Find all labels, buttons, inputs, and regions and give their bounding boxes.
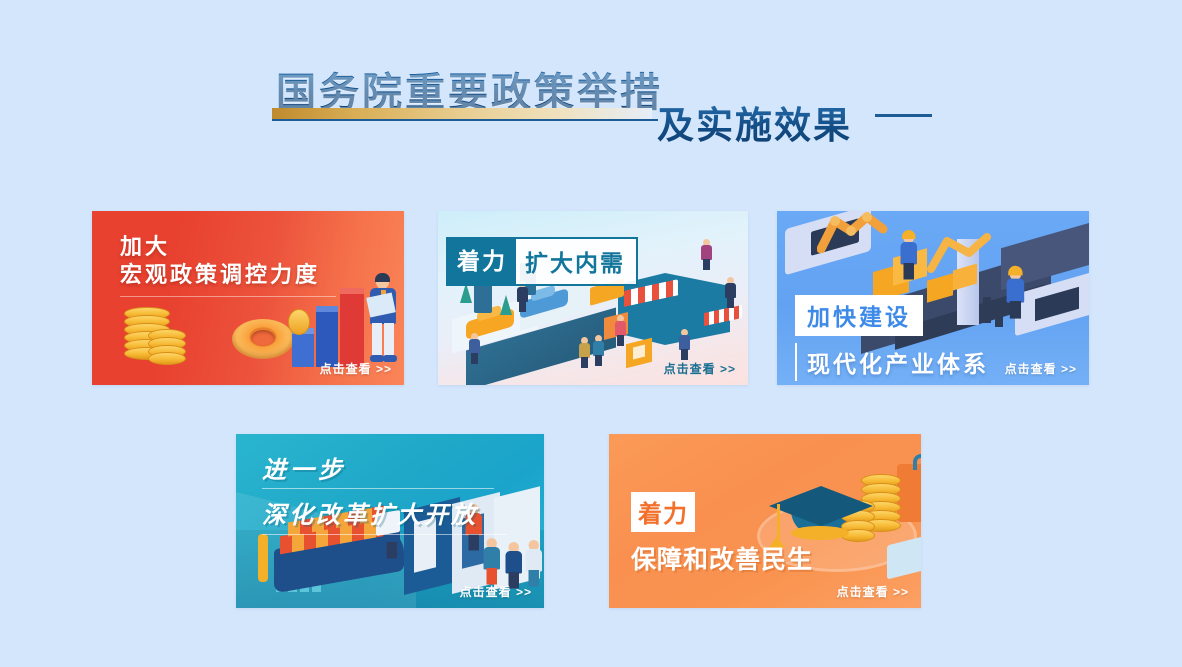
card1-title-line1: 加大 xyxy=(120,235,336,261)
card3-title-box: 加快建设 xyxy=(795,295,923,336)
card3-title-bracket: 现代化产业体系 xyxy=(795,343,989,381)
card5-title-row: 着力 xyxy=(631,492,813,532)
gold-torus-icon xyxy=(232,319,294,359)
card-expand-domestic-demand-title: 着力 扩大内需 xyxy=(446,237,638,286)
title-gold-underline xyxy=(272,108,652,119)
card-deepen-reform-title: 进一步 深化改革扩大开放 xyxy=(262,450,507,535)
mooring-post-icon xyxy=(258,534,268,582)
card-improve-livelihood-title: 着力 保障和改善民生 xyxy=(631,492,813,576)
card5-title-line1: 着力 xyxy=(638,500,688,528)
card4-title-rule-1 xyxy=(262,488,494,489)
card5-cta-link[interactable]: 点击查看 >> xyxy=(837,583,909,600)
single-coin-icon xyxy=(288,309,310,335)
card-expand-domestic-demand[interactable]: 着力 扩大内需 点击查看 >> xyxy=(438,211,748,385)
card4-title-line2: 深化改革扩大开放 xyxy=(262,495,507,530)
page-title-line2: 及实施效果 xyxy=(657,95,852,149)
title-rule-primary xyxy=(272,119,658,121)
bar-chart-bar-1 xyxy=(292,333,314,367)
card-modern-industrial-system-title: 加快建设 现代化产业体系 xyxy=(795,295,989,381)
card3-cta-link[interactable]: 点击查看 >> xyxy=(1005,360,1077,377)
card1-title-rule xyxy=(120,296,336,297)
card5-title-box-1: 着力 xyxy=(631,492,695,532)
card1-cta-link[interactable]: 点击查看 >> xyxy=(320,360,392,377)
card3-title-line1: 加快建设 xyxy=(807,305,911,331)
coin-stack-short-icon xyxy=(148,329,186,365)
briefcase-handle-icon xyxy=(913,454,921,470)
tree-icon-2 xyxy=(460,283,472,303)
card3-title-line2: 现代化产业体系 xyxy=(807,352,989,378)
card2-title-line2: 扩大内需 xyxy=(525,251,625,277)
page-root: 国务院重要政策举措 及实施效果 xyxy=(0,0,1182,667)
card1-title-line2: 宏观政策调控力度 xyxy=(120,261,336,291)
card2-title-box-primary: 着力 xyxy=(446,237,516,286)
page-header: 国务院重要政策举措 及实施效果 xyxy=(0,48,1182,158)
nozzle-2 xyxy=(995,301,1003,327)
businessman-figure-icon xyxy=(364,275,404,367)
card5-title-line2: 保障和改善民生 xyxy=(631,540,813,576)
card-macro-policy[interactable]: 加大 宏观政策调控力度 点击查看 >> xyxy=(92,211,404,385)
card4-title-line1: 进一步 xyxy=(262,450,507,485)
card2-title-box-secondary: 扩大内需 xyxy=(516,237,638,286)
card-macro-policy-title: 加大 宏观政策调控力度 xyxy=(120,235,336,297)
card-modern-industrial-system[interactable]: 加快建设 现代化产业体系 点击查看 >> xyxy=(777,211,1089,385)
title-rule-secondary xyxy=(875,114,932,117)
bar-chart-bar-3 xyxy=(340,293,364,367)
bar-chart-bar-2 xyxy=(316,311,338,367)
parcel-box-2 xyxy=(626,338,652,368)
card-improve-livelihood[interactable]: 着力 保障和改善民生 点击查看 >> xyxy=(609,434,921,608)
card2-cta-link[interactable]: 点击查看 >> xyxy=(664,360,736,377)
card4-title-rule-2 xyxy=(262,534,507,535)
robot-arm-secondary-icon xyxy=(925,227,1005,273)
card-deepen-reform-opening-up[interactable]: 进一步 深化改革扩大开放 点击查看 >> xyxy=(236,434,544,608)
card2-title-line1: 着力 xyxy=(457,249,507,275)
card4-cta-link[interactable]: 点击查看 >> xyxy=(460,583,532,600)
robot-arm-orange-icon xyxy=(817,211,889,253)
